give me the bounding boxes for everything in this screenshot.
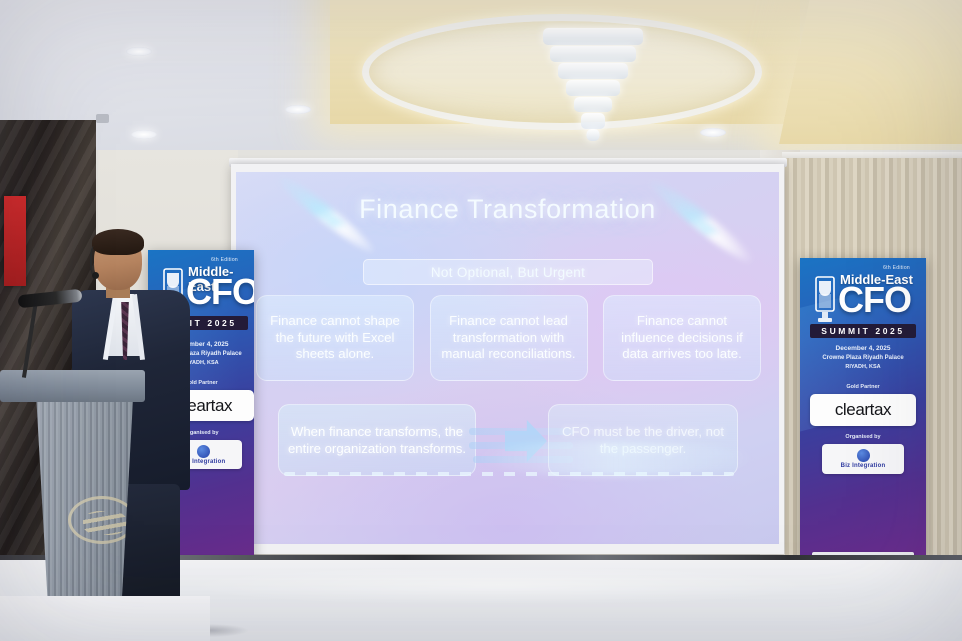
conference-stage-photo: Finance Transformation Not Optional, But… xyxy=(0,0,962,641)
banner-meta: December 4, 2025 Crowne Plaza Riyadh Pal… xyxy=(800,344,926,372)
banner-venue: Crowne Plaza Riyadh Palace xyxy=(800,354,926,363)
organiser-logo: Biz Integration xyxy=(822,444,904,474)
slide-card-text: Finance cannot influence decisions if da… xyxy=(613,313,751,364)
slide-swoosh-accent xyxy=(476,440,756,476)
banner-edition: 6th Edition xyxy=(883,265,910,271)
presentation-slide: Finance Transformation Not Optional, But… xyxy=(236,172,779,544)
ceiling-cove-light-right xyxy=(779,0,962,144)
headset-mic-boom-icon xyxy=(92,272,99,279)
slide-card-row: Finance cannot shape the future with Exc… xyxy=(256,295,761,381)
banner-gold-partner-label: Gold Partner xyxy=(800,384,926,390)
slide-card: Finance cannot shape the future with Exc… xyxy=(256,295,414,381)
biz-integration-mark-icon xyxy=(197,445,210,458)
banner-city: RIYADH, KSA xyxy=(800,363,926,372)
slide-bottom-left-text: When finance transforms, the entire orga… xyxy=(287,423,467,457)
crystal-chandelier-icon xyxy=(538,26,648,146)
banner-summit-label: SUMMIT 2025 xyxy=(810,324,916,338)
slide-card: Finance cannot lead transformation with … xyxy=(430,295,588,381)
speaker-hair xyxy=(92,229,144,255)
floor-reflection xyxy=(180,566,820,606)
slide-card-text: Finance cannot lead transformation with … xyxy=(440,313,578,364)
crowne-plaza-emblem-icon xyxy=(68,496,136,544)
rollup-banner-right: 6th Edition Middle-East CFO SUMMIT 2025 … xyxy=(800,258,926,558)
slide-title: Finance Transformation xyxy=(236,194,779,225)
banner-edition: 6th Edition xyxy=(211,257,238,263)
slide-card-text: Finance cannot shape the future with Exc… xyxy=(266,313,404,364)
slide-bottom-card-left: When finance transforms, the entire orga… xyxy=(278,404,476,476)
recessed-downlight-icon xyxy=(700,128,726,137)
trophy-icon xyxy=(814,276,836,326)
sprinkler-head-icon xyxy=(96,114,109,123)
banner-acronym: CFO xyxy=(186,275,254,309)
biz-integration-mark-icon xyxy=(857,449,870,462)
slide-subtitle-banner: Not Optional, But Urgent xyxy=(363,259,653,285)
banner-organised-label: Organised by xyxy=(800,434,926,440)
organiser-name: Biz Integration xyxy=(841,463,886,469)
podium-lectern xyxy=(0,370,145,625)
recessed-downlight-icon xyxy=(126,47,152,56)
gold-partner-logo: cleartax xyxy=(810,394,916,426)
recessed-downlight-icon xyxy=(131,130,157,139)
gold-partner-name: cleartax xyxy=(835,400,891,420)
wall-sign-red xyxy=(4,196,26,286)
slide-subtitle: Not Optional, But Urgent xyxy=(431,265,585,280)
stage-step xyxy=(0,596,210,641)
banner-acronym: CFO xyxy=(838,283,911,317)
podium-body xyxy=(28,400,133,625)
slide-card: Finance cannot influence decisions if da… xyxy=(603,295,761,381)
recessed-downlight-icon xyxy=(285,105,311,114)
banner-date: December 4, 2025 xyxy=(800,344,926,354)
